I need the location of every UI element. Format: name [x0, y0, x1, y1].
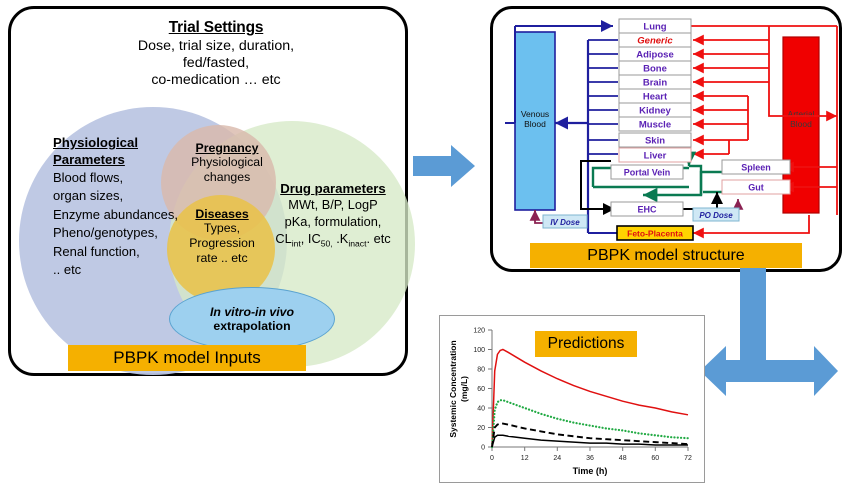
organ-box-liver: Liver	[619, 148, 691, 162]
organ-box-brain: Brain	[619, 75, 691, 89]
chart-x-tick-labels: 0 12 24 36 48 60 72	[490, 447, 692, 462]
organ-label-brain: Brain	[643, 78, 667, 89]
venous-blood-label-line-2: Blood	[524, 119, 546, 129]
pbpk-model-structure-panel: Venous Blood Arterial Blood	[490, 6, 842, 272]
organ-label-bone: Bone	[643, 64, 667, 75]
organ-label-adipose: Adipose	[636, 50, 673, 61]
svg-text:12: 12	[521, 455, 529, 462]
organ-box-adipose: Adipose	[619, 47, 691, 61]
trial-settings-line-3: co-medication … etc	[71, 72, 361, 89]
trial-settings-line-2: fed/fasted,	[71, 55, 361, 72]
diseases-text: Diseases Types, Progression rate .. etc	[174, 207, 270, 266]
organ-label-heart: Heart	[643, 92, 668, 103]
organ-label-muscle: Muscle	[639, 120, 671, 131]
diseases-heading: Diseases	[174, 207, 270, 221]
svg-text:20: 20	[477, 425, 485, 432]
physiological-body-line-2: organ sizes,	[53, 188, 203, 204]
ic50-text: , IC	[301, 231, 321, 246]
chart-x-axis-title: Time (h)	[573, 466, 608, 476]
po-dose-box: PO Dose	[693, 208, 739, 221]
chart-y-tick-labels: 0 20 40 60 80 100 120	[473, 328, 492, 452]
svg-text:72: 72	[684, 455, 692, 462]
kinact-text: .K	[333, 231, 349, 246]
organ-label-kidney: Kidney	[639, 106, 671, 117]
svg-text:100: 100	[473, 347, 485, 354]
svg-text:40: 40	[477, 406, 485, 413]
ivive-line-1: In vitro-in vivo	[210, 305, 294, 319]
predictions-banner: Predictions	[535, 331, 637, 357]
chart-y-axis-title-line-2: (mg/L)	[459, 376, 469, 402]
diseases-body-line-3: rate .. etc	[174, 251, 270, 266]
chart-series-1	[492, 350, 688, 448]
organ-label-ehc: EHC	[637, 205, 657, 215]
drug-body-line-1: MWt, B/P, LogP	[259, 196, 407, 213]
ivive-text-block: In vitro-in vivo extrapolation	[210, 305, 294, 333]
organ-label-portal-vein: Portal Vein	[624, 168, 671, 178]
organ-label-generic: Generic	[637, 36, 673, 47]
chart-series-4	[492, 435, 688, 447]
diseases-body-line-2: Progression	[174, 236, 270, 251]
diagram-canvas: Trial Settings Dose, trial size, duratio…	[0, 0, 850, 486]
diseases-body-line-1: Types,	[174, 221, 270, 236]
arterial-blood-label-line-2: Blood	[790, 119, 812, 129]
ivive-line-2: extrapolation	[210, 319, 294, 333]
chart-series-group	[492, 350, 688, 448]
pregnancy-body-line-1: Physiological	[179, 155, 275, 170]
organ-box-heart: Heart	[619, 89, 691, 103]
trial-settings-title: Trial Settings	[71, 19, 361, 37]
iv-dose-label: IV Dose	[550, 218, 580, 227]
etc-text: . etc	[366, 231, 390, 246]
organ-label-feto-placenta: Feto-Placenta	[627, 229, 683, 239]
drug-body-line-2: pKa, formulation,	[259, 213, 407, 230]
cl-int-subscript: int	[292, 239, 301, 249]
organ-box-skin: Skin	[619, 133, 691, 147]
drug-body-line-3: CLint, IC50, .Kinact. etc	[259, 230, 407, 253]
trial-settings-block: Trial Settings Dose, trial size, duratio…	[71, 19, 361, 89]
organ-box-kidney: Kidney	[619, 103, 691, 117]
chart-y-axis-title-line-1: Systemic Concentration	[448, 340, 458, 437]
svg-text:120: 120	[473, 328, 485, 335]
svg-text:24: 24	[553, 455, 561, 462]
po-dose-label: PO Dose	[699, 211, 733, 220]
chart-series-2	[492, 400, 688, 447]
organ-box-ehc: EHC	[611, 202, 683, 216]
organ-label-skin: Skin	[645, 136, 665, 147]
svg-text:0: 0	[490, 455, 494, 462]
pbpk-model-inputs-panel: Trial Settings Dose, trial size, duratio…	[8, 6, 408, 376]
svg-text:0: 0	[481, 445, 485, 452]
in-vitro-in-vivo-extrapolation-ellipse: In vitro-in vivo extrapolation	[169, 287, 335, 351]
organ-box-gut: Gut	[722, 180, 790, 194]
organ-box-bone: Bone	[619, 61, 691, 75]
inputs-to-structure-arrow	[413, 143, 477, 189]
organ-box-spleen: Spleen	[722, 160, 790, 174]
svg-text:60: 60	[651, 455, 659, 462]
svg-text:36: 36	[586, 455, 594, 462]
organ-label-gut: Gut	[748, 183, 764, 193]
ic50-subscript: 50,	[321, 239, 333, 249]
organ-label-lung: Lung	[643, 22, 666, 33]
organ-box-lung: Lung	[619, 19, 691, 33]
kinact-subscript: inact	[348, 239, 366, 249]
trial-settings-line-1: Dose, trial size, duration,	[71, 38, 361, 55]
drug-heading: Drug parameters	[259, 181, 407, 196]
organ-box-muscle: Muscle	[619, 117, 691, 131]
pbpk-model-inputs-banner: PBPK model Inputs	[68, 345, 306, 371]
organ-label-liver: Liver	[644, 151, 667, 162]
pregnancy-heading: Pregnancy	[179, 141, 275, 155]
cl-int-text: CL	[275, 231, 291, 246]
structure-to-predictions-arrow	[696, 268, 838, 408]
organ-box-generic: Generic	[619, 33, 691, 47]
iv-dose-box: IV Dose	[543, 215, 587, 228]
pbpk-model-structure-banner: PBPK model structure	[530, 243, 802, 268]
organ-box-portal-vein: Portal Vein	[611, 165, 683, 179]
organ-label-spleen: Spleen	[741, 163, 771, 173]
arterial-blood-label-line-1: Arterial	[788, 109, 815, 119]
drug-parameters-text: Drug parameters MWt, B/P, LogP pKa, form…	[259, 181, 407, 253]
svg-text:60: 60	[477, 386, 485, 393]
svg-text:80: 80	[477, 367, 485, 374]
organ-box-feto-placenta: Feto-Placenta	[617, 226, 693, 240]
venous-blood-label-line-1: Venous	[521, 109, 549, 119]
pregnancy-text: Pregnancy Physiological changes	[179, 141, 275, 185]
svg-text:48: 48	[619, 455, 627, 462]
